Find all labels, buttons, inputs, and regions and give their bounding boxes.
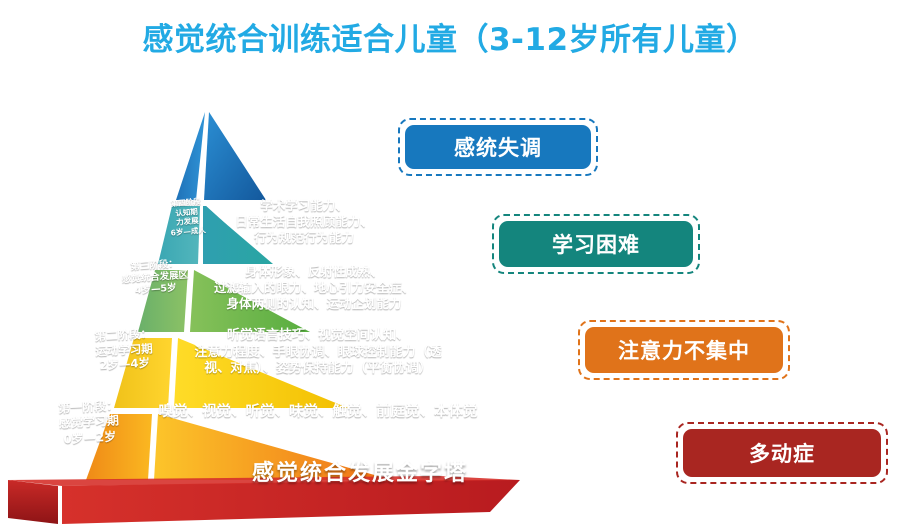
tier-3-main: [190, 270, 310, 332]
callout-learning-difficulty[interactable]: 学习困难: [492, 214, 700, 274]
pyramid-apex-left: [176, 112, 205, 200]
pyramid-base-front: [62, 480, 520, 524]
page-title: 感觉统合训练适合儿童（3-12岁所有儿童）: [0, 14, 900, 59]
callout-sensory-integration-disorder[interactable]: 感统失调: [398, 118, 598, 176]
tier-3-side: [138, 270, 188, 332]
tier-1-side: [86, 414, 152, 480]
pyramid-base-side: [8, 480, 58, 524]
callout-label-3: 多动症: [683, 429, 881, 477]
callout-label-1: 学习困难: [499, 221, 693, 267]
pyramid-apex-right: [204, 112, 266, 200]
tier-4-main: [203, 206, 273, 264]
callout-label-0: 感统失调: [405, 125, 591, 169]
callout-adhd[interactable]: 多动症: [676, 422, 888, 484]
tier-2-side: [114, 338, 172, 408]
callout-label-2: 注意力不集中: [585, 327, 783, 373]
tier-2-main: [174, 338, 348, 408]
tier-4-side: [158, 206, 200, 264]
tier-1-main: [154, 414, 392, 480]
callout-inattention[interactable]: 注意力不集中: [578, 320, 790, 380]
